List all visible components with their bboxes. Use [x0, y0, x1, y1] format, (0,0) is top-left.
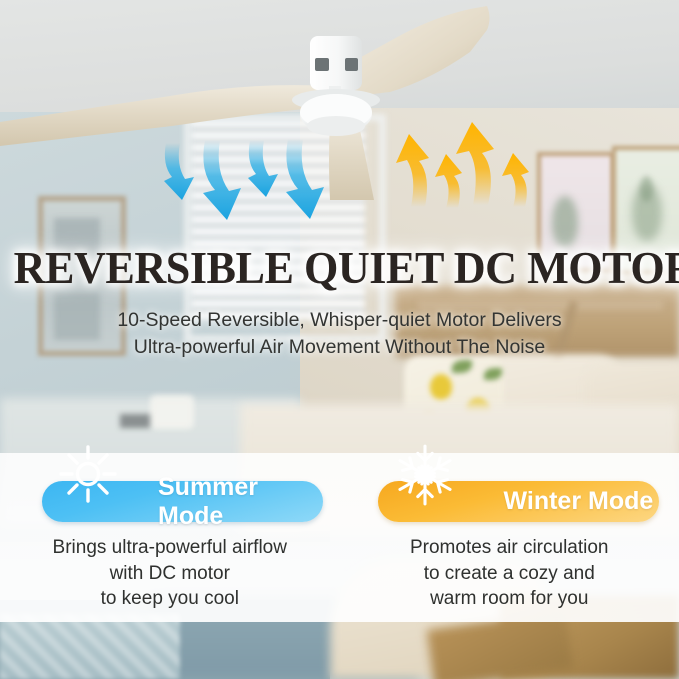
down-arrow-icon	[248, 140, 278, 197]
summer-desc-line-2: with DC motor	[0, 561, 340, 587]
down-arrow-icon	[203, 140, 241, 220]
sun-icon	[56, 442, 120, 506]
winter-desc-line-3: warm room for you	[340, 586, 679, 612]
winter-mode-description: Promotes air circulation to create a coz…	[340, 535, 679, 612]
winter-desc-line-1: Promotes air circulation	[340, 535, 679, 561]
product-feature-image: REVERSIBLE QUIET DC MOTOR 10-Speed Rever…	[0, 0, 679, 679]
down-arrow-icon	[286, 139, 324, 219]
up-arrow-icon	[396, 134, 429, 207]
up-arrow-icon	[435, 154, 462, 208]
nightstand-lamp	[150, 395, 194, 429]
down-arrow-icon	[164, 143, 194, 200]
winter-mode-label: Winter Mode	[504, 487, 654, 516]
snowflake-icon	[392, 442, 458, 508]
summer-mode-label: Summer Mode	[158, 473, 323, 531]
nightstand-object	[120, 414, 150, 428]
lemon-motif	[430, 374, 452, 400]
subtitle: 10-Speed Reversible, Whisper-quiet Motor…	[0, 307, 679, 361]
summer-desc-line-3: to keep you cool	[0, 586, 340, 612]
patterned-rug	[0, 614, 180, 679]
page-title: REVERSIBLE QUIET DC MOTOR	[14, 241, 666, 294]
winter-mode-column: Winter Mode	[340, 453, 679, 622]
summer-desc-line-1: Brings ultra-powerful airflow	[0, 535, 340, 561]
up-arrow-icon	[456, 122, 494, 205]
subtitle-line-2: Ultra-powerful Air Movement Without The …	[0, 334, 679, 361]
airflow-arrows	[0, 0, 679, 230]
up-arrow-icon	[502, 153, 529, 207]
winter-desc-line-2: to create a cozy and	[340, 561, 679, 587]
subtitle-line-1: 10-Speed Reversible, Whisper-quiet Motor…	[0, 307, 679, 334]
modes-columns: Summer Mode Brings ultra-powerful airflo…	[0, 453, 679, 622]
summer-mode-description: Brings ultra-powerful airflow with DC mo…	[0, 535, 340, 612]
summer-mode-column: Summer Mode Brings ultra-powerful airflo…	[0, 453, 340, 622]
